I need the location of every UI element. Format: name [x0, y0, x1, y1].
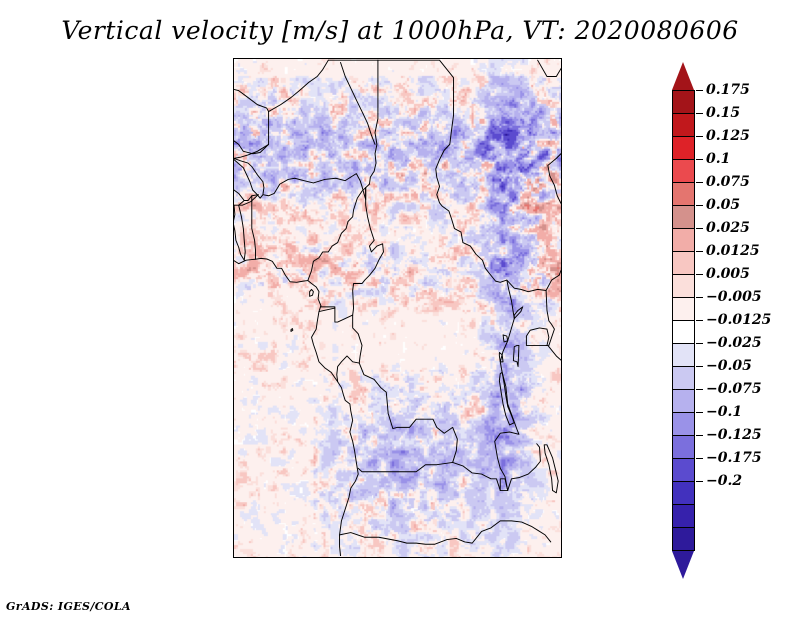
colorbar-tick: [696, 297, 703, 298]
colorbar-label: −0.2: [706, 473, 742, 489]
colorbar-swatch: 0.15: [672, 113, 695, 137]
colorbar: 0.1750.150.1250.10.0750.050.0250.01250.0…: [672, 90, 695, 550]
colorbar-swatch: 0.005: [672, 274, 695, 298]
x-axis-tick: [540, 557, 541, 558]
y-axis-tick: [233, 394, 234, 395]
colorbar-tick: [696, 228, 703, 229]
y-axis-tick: [233, 159, 234, 160]
x-axis-tick: [258, 557, 259, 558]
y-axis-tick: [233, 218, 234, 219]
colorbar-tick: [696, 343, 703, 344]
colorbar-label: 0.125: [706, 128, 750, 144]
colorbar-tick: [696, 113, 703, 114]
colorbar-swatch: 0.175: [672, 90, 695, 114]
colorbar-swatch: [672, 504, 695, 528]
colorbar-swatch: −0.075: [672, 389, 695, 413]
colorbar-swatch: −0.175: [672, 458, 695, 482]
x-axis-tick: [483, 557, 484, 558]
colorbar-label: −0.175: [706, 450, 762, 466]
colorbar-swatch: −0.025: [672, 343, 695, 367]
colorbar-label: −0.0125: [706, 312, 771, 328]
colorbar-swatch: −0.05: [672, 366, 695, 390]
colorbar-label: 0.005: [706, 266, 750, 282]
x-axis-tick: [511, 557, 512, 558]
colorbar-swatch: −0.2: [672, 481, 695, 505]
colorbar-swatch: 0.125: [672, 136, 695, 160]
colorbar-tick: [696, 320, 703, 321]
colorbar-tick: [696, 389, 703, 390]
x-axis-tick: [342, 557, 343, 558]
colorbar-label: −0.1: [706, 404, 742, 420]
colorbar-label: 0.175: [706, 82, 750, 98]
colorbar-bottom-arrow: [672, 551, 694, 579]
colorbar-tick: [696, 182, 703, 183]
colorbar-swatch: 0.025: [672, 228, 695, 252]
colorbar-swatch: 0.05: [672, 205, 695, 229]
y-axis-tick: [233, 453, 234, 454]
colorbar-tick: [696, 205, 703, 206]
colorbar-tick: [696, 159, 703, 160]
x-axis-tick: [286, 557, 287, 558]
colorbar-tick: [696, 458, 703, 459]
colorbar-tick: [696, 481, 703, 482]
colorbar-swatch: −0.1: [672, 412, 695, 436]
colorbar-label: 0.15: [706, 105, 740, 121]
map-plot-area: 20N15N10N5NEQ5S10S15S3E6E9E12E15E18E21E2…: [233, 58, 562, 558]
colorbar-label: 0.075: [706, 174, 750, 190]
colorbar-tick: [696, 274, 703, 275]
colorbar-label: −0.075: [706, 381, 762, 397]
colorbar-swatch: 0.075: [672, 182, 695, 206]
colorbar-swatch: [672, 527, 695, 551]
x-axis-tick: [370, 557, 371, 558]
colorbar-tick: [696, 136, 703, 137]
colorbar-tick: [696, 90, 703, 91]
colorbar-swatch: −0.0125: [672, 320, 695, 344]
colorbar-label: 0.05: [706, 197, 740, 213]
colorbar-top-arrow: [672, 62, 694, 90]
y-axis-tick: [233, 512, 234, 513]
colorbar-label: 0.1: [706, 151, 730, 167]
colorbar-tick: [696, 366, 703, 367]
x-axis-tick: [399, 557, 400, 558]
colorbar-label: −0.005: [706, 289, 762, 305]
colorbar-label: −0.025: [706, 335, 762, 351]
colorbar-swatch: −0.125: [672, 435, 695, 459]
colorbar-label: −0.05: [706, 358, 752, 374]
colorbar-swatch: −0.005: [672, 297, 695, 321]
colorbar-label: 0.0125: [706, 243, 760, 259]
y-axis-tick: [233, 100, 234, 101]
colorbar-tick: [696, 251, 703, 252]
colorbar-swatch: 0.1: [672, 159, 695, 183]
colorbar-tick: [696, 412, 703, 413]
y-axis-tick: [233, 335, 234, 336]
colorbar-label: −0.125: [706, 427, 762, 443]
page-title: Vertical velocity [m/s] at 1000hPa, VT: …: [0, 16, 800, 45]
grads-credit: GrADS: IGES/COLA: [6, 600, 131, 613]
country-borders-overlay: [234, 59, 561, 556]
x-axis-tick: [455, 557, 456, 558]
x-axis-tick: [427, 557, 428, 558]
colorbar-label: 0.025: [706, 220, 750, 236]
colorbar-tick: [696, 435, 703, 436]
x-axis-tick: [314, 557, 315, 558]
y-axis-tick: [233, 277, 234, 278]
colorbar-swatch: 0.0125: [672, 251, 695, 275]
